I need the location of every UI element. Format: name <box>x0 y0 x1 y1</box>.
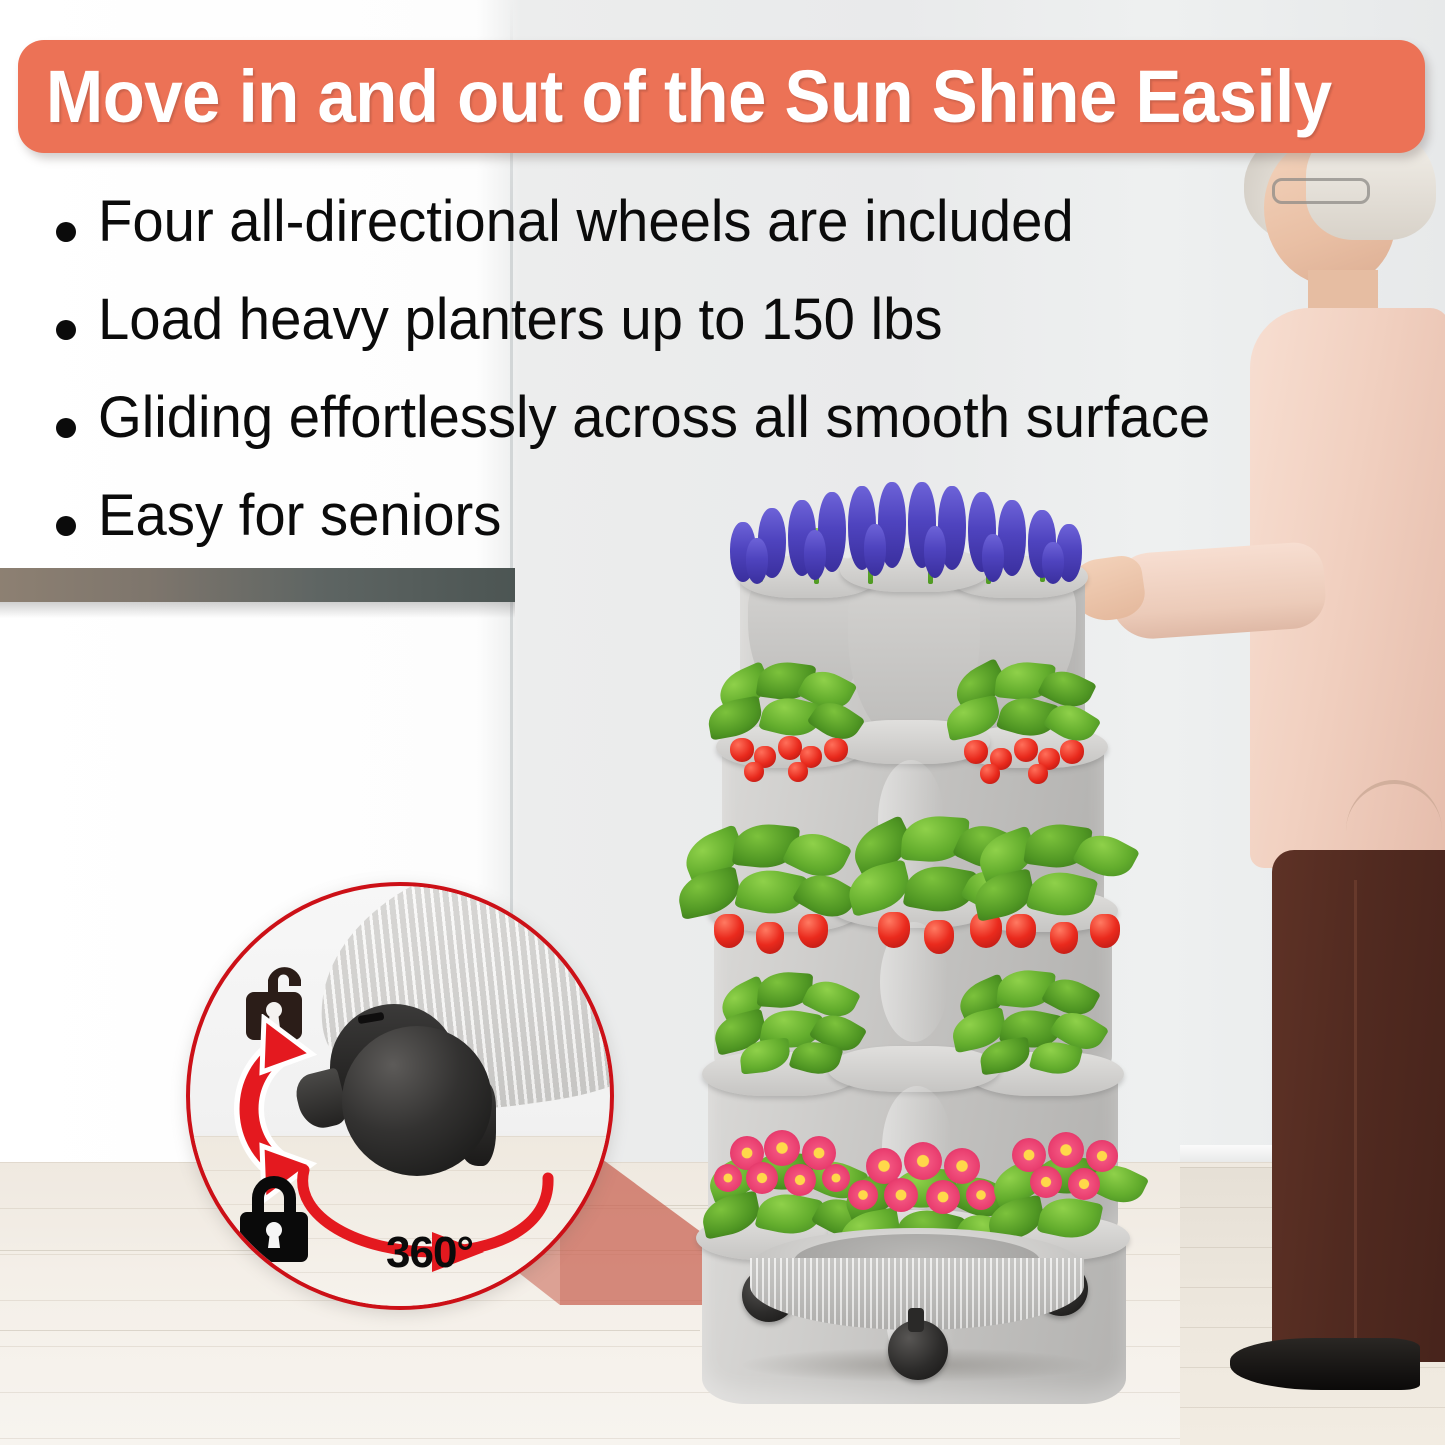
shoe <box>1230 1338 1420 1390</box>
floor-plank-line <box>0 1330 700 1331</box>
bullet-label: Load heavy planters up to 150 lbs <box>98 290 943 351</box>
bullet-dot-icon <box>56 418 76 438</box>
bullet-dot-icon <box>56 222 76 242</box>
bullet-label: Four all-directional wheels are included <box>98 192 1074 253</box>
bullet-label: Easy for seniors <box>98 486 501 547</box>
list-item: Gliding effortlessly across all smooth s… <box>56 388 1416 486</box>
list-item: Easy for seniors <box>56 486 1416 584</box>
counter-edge-shadow <box>0 602 515 618</box>
feature-bullet-list: Four all-directional wheels are included… <box>56 192 1416 584</box>
plant-basil-left <box>710 970 890 1080</box>
bullet-dot-icon <box>56 516 76 536</box>
bullet-dot-icon <box>56 320 76 340</box>
rotation-degree-label: 360° <box>386 1228 473 1278</box>
rolling-base <box>742 1228 1092 1378</box>
trouser-crease <box>1354 880 1357 1340</box>
plant-cherry-tomato-right <box>938 662 1118 792</box>
plant-basil-right <box>948 968 1132 1080</box>
caster-stem-front <box>908 1308 924 1332</box>
plant-strawberry-right <box>972 822 1158 958</box>
product-feature-poster: Move in and out of the Sun Shine Easily … <box>0 0 1445 1445</box>
list-item: Load heavy planters up to 150 lbs <box>56 290 1416 388</box>
header-banner: Move in and out of the Sun Shine Easily <box>18 40 1425 153</box>
plant-cherry-tomato-left <box>700 662 880 792</box>
list-item: Four all-directional wheels are included <box>56 192 1416 290</box>
trousers <box>1272 850 1445 1362</box>
banner-title: Move in and out of the Sun Shine Easily <box>18 60 1332 134</box>
bullet-label: Gliding effortlessly across all smooth s… <box>98 388 1210 449</box>
wheel-detail-callout: 360° <box>186 882 614 1310</box>
